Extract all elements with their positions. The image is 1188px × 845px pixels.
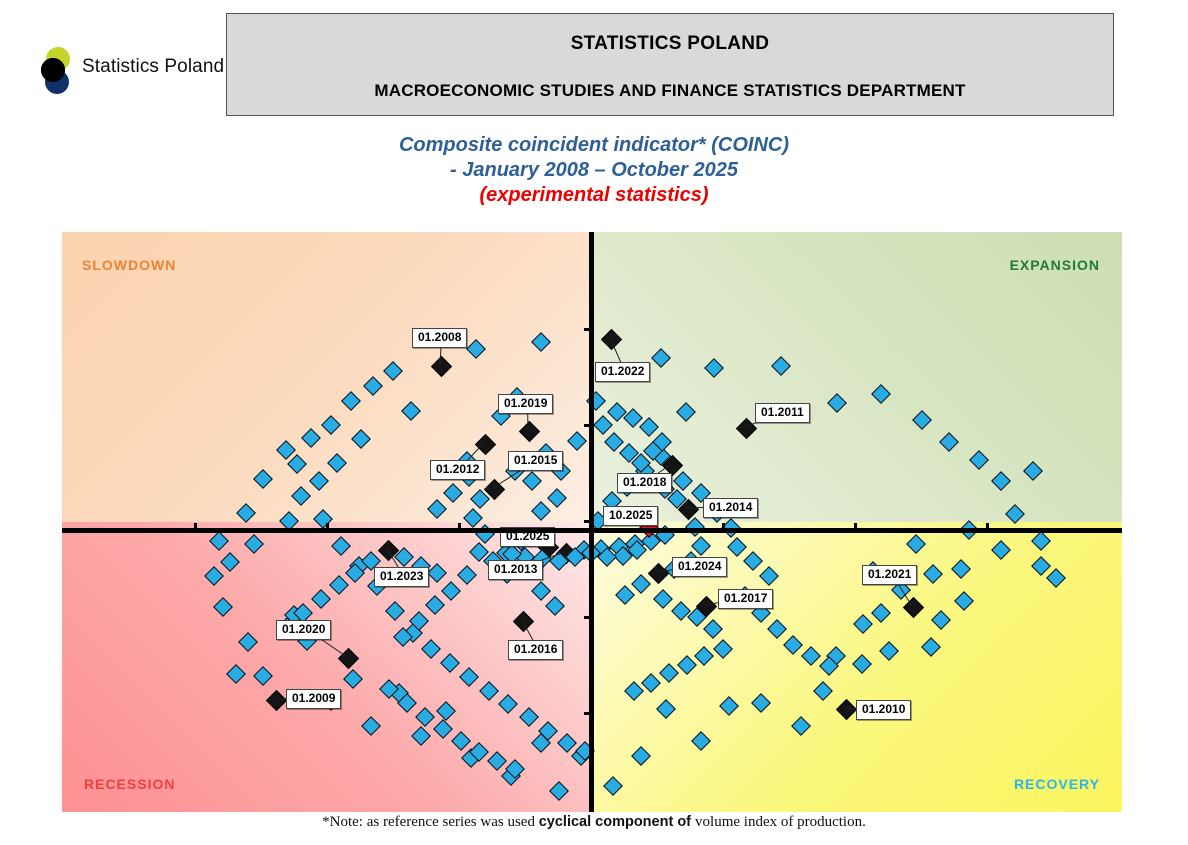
callout-01.2011: 01.2011 (755, 403, 810, 423)
footnote-post: volume index of production. (695, 814, 866, 830)
chart-title-line1: Composite coincident indicator* (COINC) (0, 133, 1188, 158)
organization-name: STATISTICS POLAND (571, 33, 770, 55)
callout-01.2017: 01.2017 (718, 589, 773, 609)
logo-circles-icon (36, 46, 78, 96)
footnote-pre: *Note: as reference series was used (322, 814, 539, 830)
footnote-bold: cyclical component of (539, 814, 695, 830)
callout-10.2025: 10.2025 (603, 506, 658, 526)
chart-title-line3: (experimental statistics) (0, 183, 1188, 208)
x-axis-tick (326, 523, 329, 532)
x-axis-tick (986, 523, 989, 532)
callout-01.2013: 01.2013 (488, 560, 543, 580)
footnote: *Note: as reference series was used cycl… (0, 814, 1188, 831)
callout-01.2024: 01.2024 (672, 557, 727, 577)
callout-01.2021: 01.2021 (862, 565, 917, 585)
x-axis-tick (590, 523, 593, 532)
callout-01.2020: 01.2020 (276, 620, 331, 640)
y-axis-tick (584, 424, 593, 427)
y-axis-tick (584, 712, 593, 715)
callout-01.2016: 01.2016 (508, 640, 563, 660)
coinc-scatter-plot: SLOWDOWN EXPANSION RECESSION RECOVERY 01… (62, 232, 1122, 812)
callout-01.2018: 01.2018 (617, 473, 672, 493)
x-axis-tick (722, 523, 725, 532)
institution-title-box: STATISTICS POLAND MACROECONOMIC STUDIES … (226, 13, 1114, 116)
logo-wordmark: Statistics Poland (82, 56, 224, 78)
chart-title-line2: - January 2008 – October 2025 (0, 158, 1188, 183)
callout-01.2009: 01.2009 (286, 689, 341, 709)
department-name: MACROECONOMIC STUDIES AND FINANCE STATIS… (374, 81, 965, 101)
x-axis-tick (458, 523, 461, 532)
y-axis-tick (584, 328, 593, 331)
callout-01.2023: 01.2023 (374, 567, 429, 587)
statistics-poland-logo: Statistics Poland (36, 48, 226, 94)
callout-01.2019: 01.2019 (498, 394, 553, 414)
callout-01.2012: 01.2012 (430, 460, 485, 480)
page-header: Statistics Poland STATISTICS POLAND MACR… (0, 0, 1188, 126)
x-axis-tick (854, 523, 857, 532)
y-axis-tick (584, 616, 593, 619)
callout-01.2010: 01.2010 (856, 700, 911, 720)
callout-01.2015: 01.2015 (508, 451, 563, 471)
y-axis-tick (584, 520, 593, 523)
chart-title: Composite coincident indicator* (COINC) … (0, 133, 1188, 208)
x-axis-tick (194, 523, 197, 532)
callout-01.2014: 01.2014 (703, 498, 758, 518)
callout-01.2008: 01.2008 (412, 328, 467, 348)
callout-01.2022: 01.2022 (595, 362, 650, 382)
